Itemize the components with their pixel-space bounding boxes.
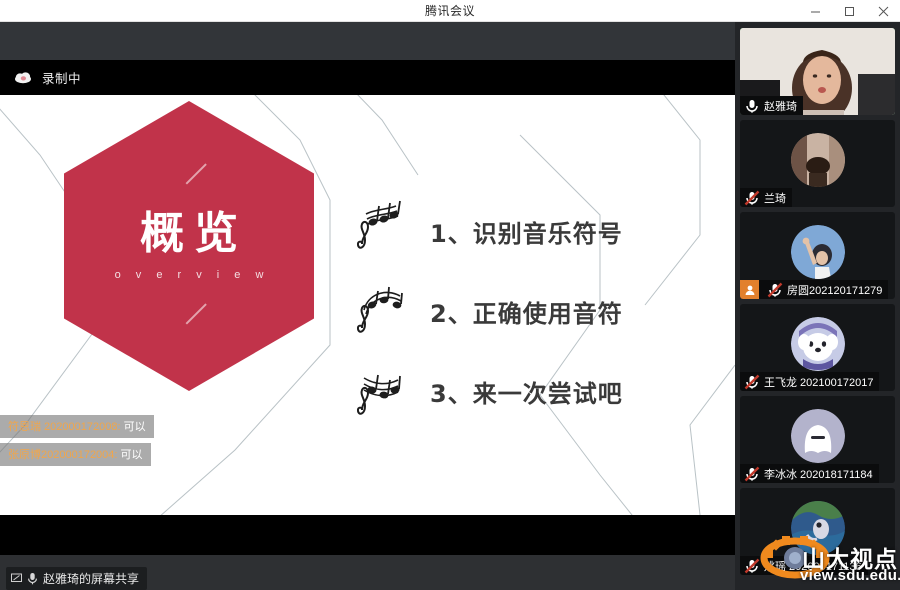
chat-body: 可以 [124,421,146,433]
chat-message: 张原博202000172004: 可以 [0,443,151,466]
close-button[interactable] [866,0,900,22]
presentation-slide: 概览 o v e r v i e w [0,95,735,515]
participant-name-bar: 房圆202120171279 [740,280,888,299]
recording-bar: 录制中 [0,60,735,95]
maximize-button[interactable] [832,0,866,22]
participant-name: 李冰冰 202018171184 [764,466,873,482]
title-bar: 腾讯会议 [0,0,900,22]
screen-share-label: 赵雅琦的屏幕共享 [43,570,139,587]
participant-name: 赵雅琦 [764,98,797,114]
window-controls [798,0,900,22]
shared-screen-stage: 录制中 概览 o v e r v i e w [0,22,735,590]
participant-rail[interactable]: 赵雅琦 兰琦 [735,22,900,590]
mic-off-icon [744,466,760,482]
participant-tile[interactable]: 王飞龙 202100172017 [740,304,895,391]
participant-name: 兰琦 [764,190,786,206]
recording-label: 录制中 [42,68,81,87]
lower-black-band [0,515,735,555]
overview-bullet-list: 1、识别音乐符号 [352,191,682,431]
mic-on-icon [27,572,38,585]
mic-off-icon [767,282,783,298]
screen-share-indicator[interactable]: 赵雅琦的屏幕共享 [6,567,147,590]
hexagon-shape: 概览 o v e r v i e w [64,101,314,391]
chat-overlay: 符恩瑞 202000172008: 可以 张原博202000172004: 可以 [0,415,200,466]
bullet-item: 2、正确使用音符 [352,271,682,351]
avatar [791,225,845,279]
chat-message: 符恩瑞 202000172008: 可以 [0,415,154,438]
shared-window-toolbar [0,22,735,60]
hexagon-title: 概览 [130,212,248,256]
music-notes-icon [352,280,414,342]
participant-name-bar: 李冰冰 202018171184 [740,464,879,483]
chat-sender: 符恩瑞 202000172008: [8,421,121,433]
screen-icon [11,573,22,584]
participant-name-bar: 兰琦 [740,188,792,207]
music-notes-icon [352,360,414,422]
bullet-item: 3、来一次尝试吧 [352,351,682,431]
participant-name: 房圆202120171279 [787,282,882,298]
bullet-item: 1、识别音乐符号 [352,191,682,271]
chat-sender: 张原博202000172004: [8,449,117,461]
mic-on-icon [744,98,760,114]
hexagon-subtitle: o v e r v i e w [109,269,270,281]
participant-name: 姚瑶 202000171136 [764,558,862,574]
avatar [791,317,845,371]
bullet-text: 2、正确使用音符 [430,294,623,329]
chat-body: 可以 [121,449,143,461]
participant-tile[interactable]: 房圆202120171279 [740,212,895,299]
stage-bottom-bar: 赵雅琦的屏幕共享 [0,555,735,590]
overview-hexagon: 概览 o v e r v i e w [64,101,314,391]
mic-off-icon [744,558,760,574]
participant-tile[interactable]: 赵雅琦 [740,28,895,115]
avatar [791,409,845,463]
participant-tile[interactable]: 姚瑶 202000171136 [740,488,895,575]
mic-off-icon [744,374,760,390]
cloud-icon [14,71,32,84]
tencent-meeting-window: 腾讯会议 录制中 [0,0,900,590]
minimize-button[interactable] [798,0,832,22]
participant-tile[interactable]: 兰琦 [740,120,895,207]
music-notes-icon [352,200,414,262]
avatar [791,501,845,555]
participant-name-bar: 王飞龙 202100172017 [740,372,879,391]
window-title: 腾讯会议 [425,2,475,19]
mic-off-icon [744,190,760,206]
participant-tile[interactable]: 李冰冰 202018171184 [740,396,895,483]
participant-name-bar: 赵雅琦 [740,96,803,115]
avatar [791,133,845,187]
bullet-text: 3、来一次尝试吧 [430,374,623,409]
participant-name: 王飞龙 202100172017 [764,374,873,390]
participant-name-bar: 姚瑶 202000171136 [740,556,868,575]
bullet-text: 1、识别音乐符号 [430,214,623,249]
host-badge-icon [740,280,759,299]
